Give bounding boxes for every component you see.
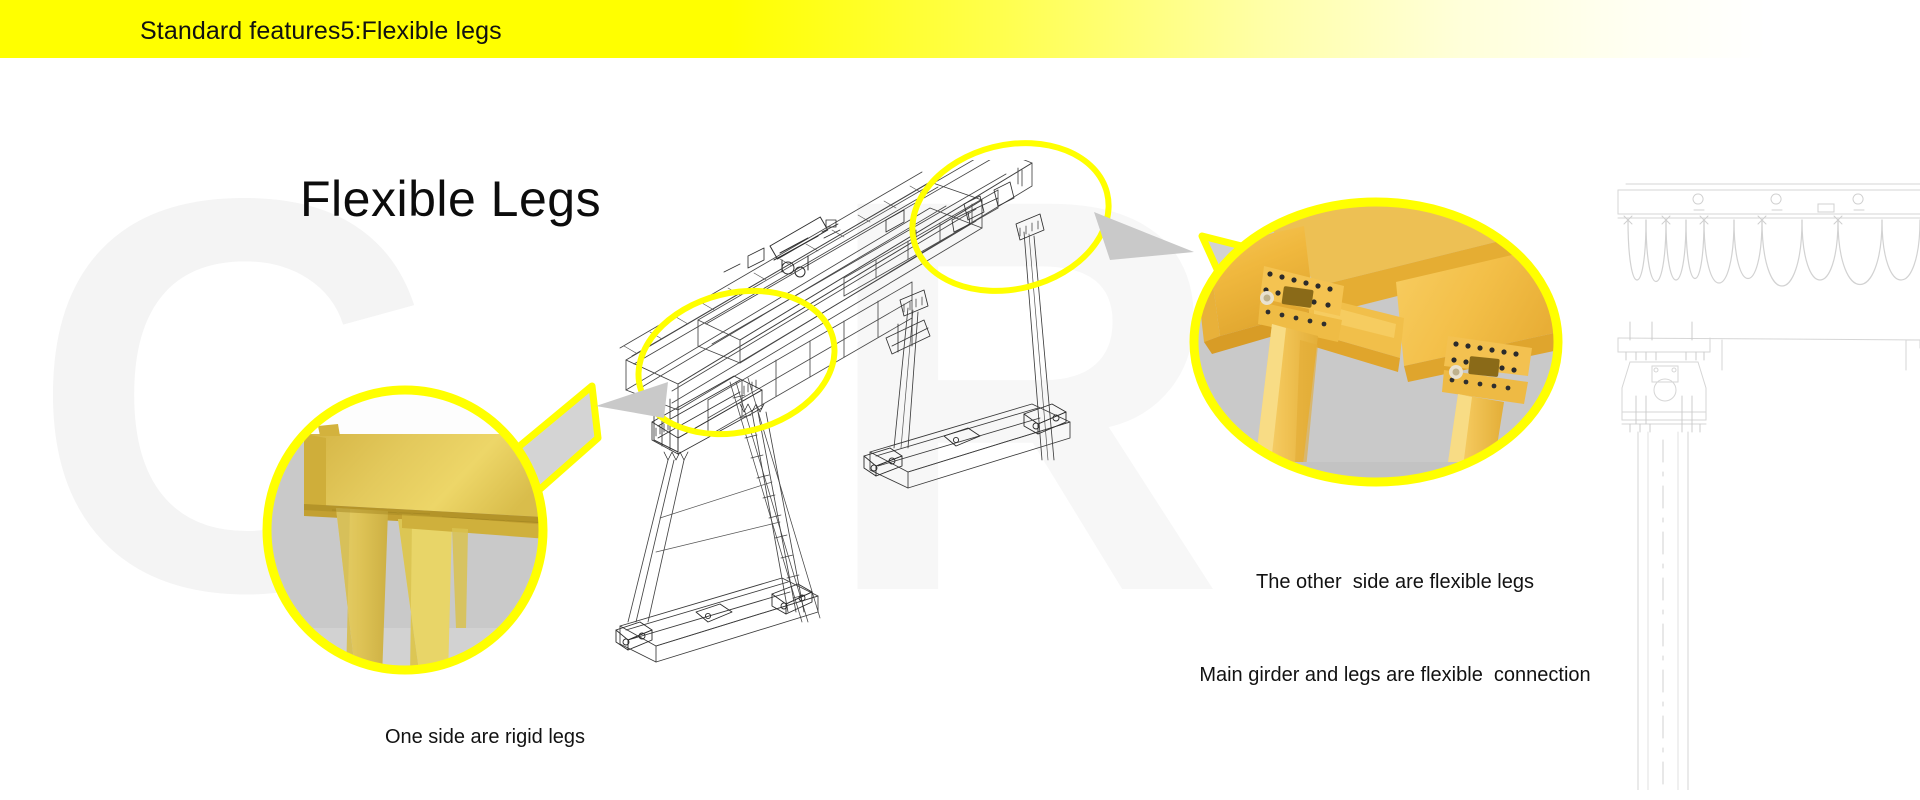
page-title: Flexible Legs [300,170,601,228]
caption-rigid-line1: One side are rigid legs [190,722,780,753]
caption-flexible-line2: Main girder and legs are flexible connec… [1090,660,1700,691]
header-title: Standard features5:Flexible legs [140,17,502,46]
caption-flexible-line1: The other side are flexible legs [1090,567,1700,598]
connector-wedge-left [590,380,670,440]
caption-flexible-legs: The other side are flexible legs Main gi… [1090,505,1700,722]
callout-flexible-legs[interactable] [1168,190,1556,480]
caption-rigid-legs: One side are rigid legs Main girder and … [190,660,780,800]
connector-wedge-right [1090,208,1200,278]
